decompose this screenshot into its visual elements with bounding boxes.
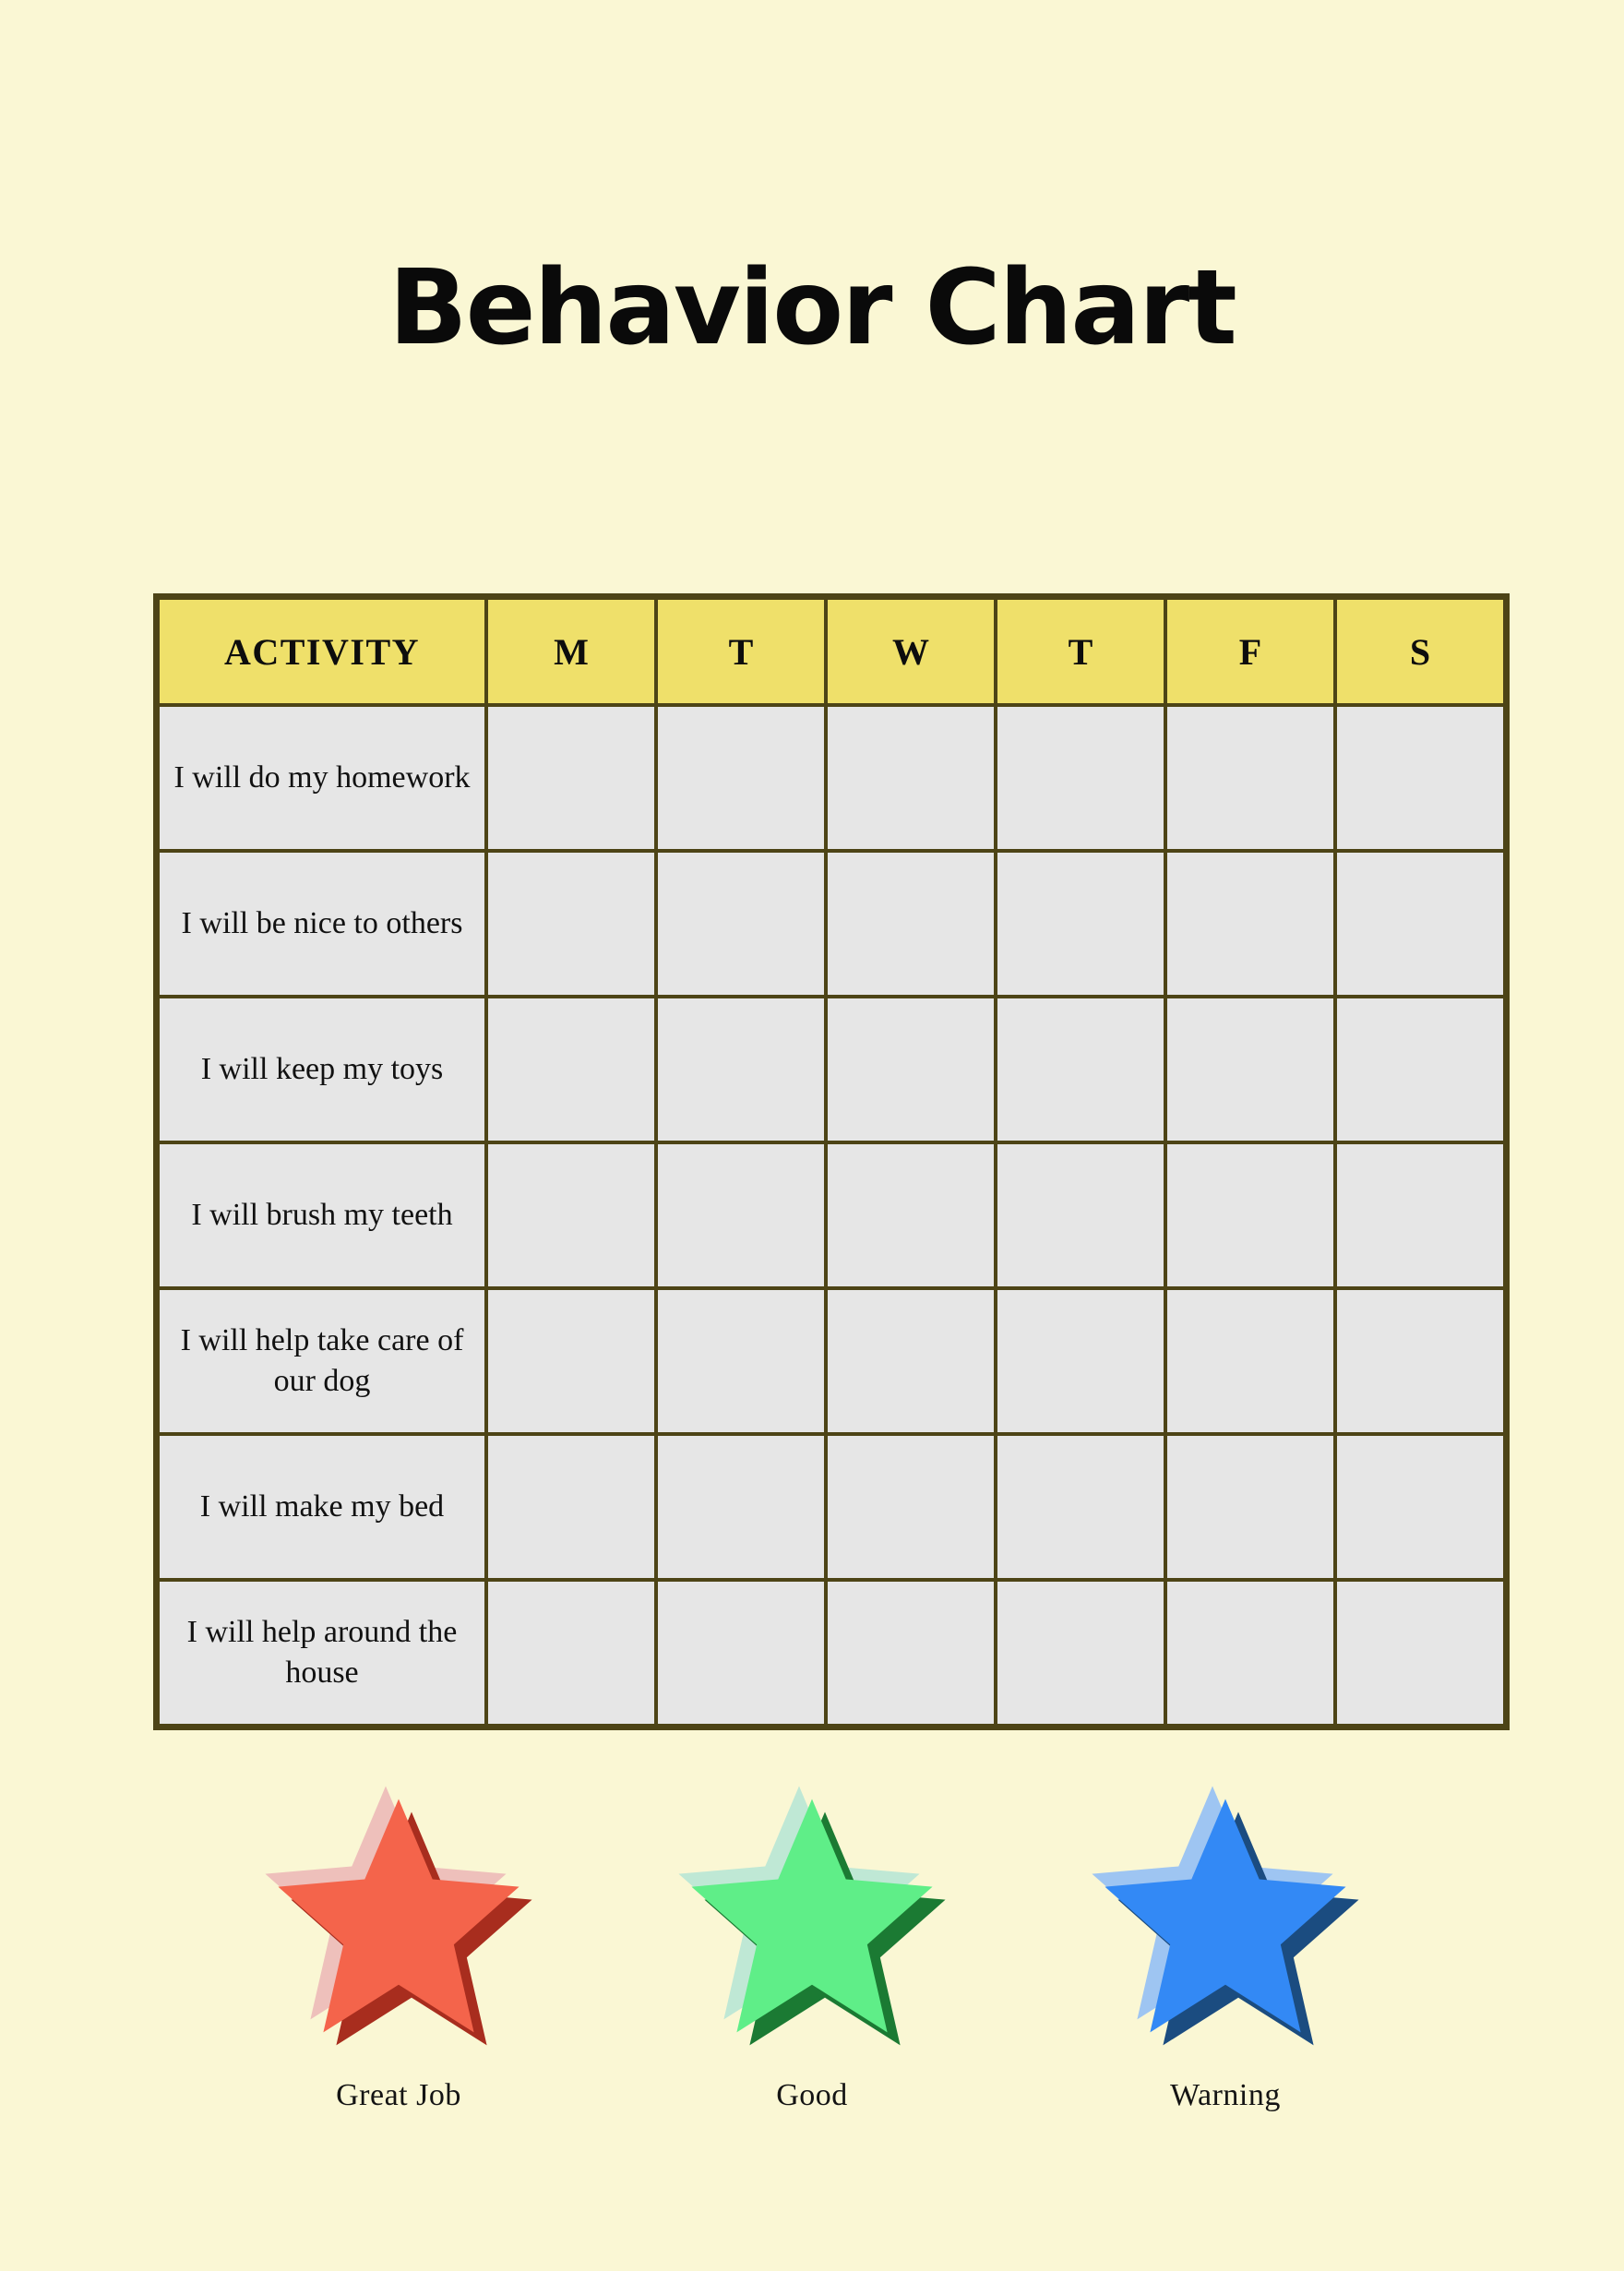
column-header-monday: M <box>486 597 656 706</box>
column-header-wednesday: W <box>826 597 996 706</box>
mark-cell-saturday[interactable] <box>1335 1288 1507 1434</box>
mark-cell-wednesday[interactable] <box>826 851 996 997</box>
mark-cell-tuesday[interactable] <box>656 705 826 851</box>
legend-label: Good <box>776 2078 848 2113</box>
activity-label: I will help around the house <box>157 1580 487 1727</box>
mark-cell-monday[interactable] <box>486 851 656 997</box>
star-icon <box>1087 1781 1364 2058</box>
table-row: I will be nice to others <box>157 851 1507 997</box>
mark-cell-monday[interactable] <box>486 1288 656 1434</box>
mark-cell-friday[interactable] <box>1165 1288 1335 1434</box>
mark-cell-thursday[interactable] <box>996 997 1165 1142</box>
table-row: I will make my bed <box>157 1434 1507 1580</box>
mark-cell-wednesday[interactable] <box>826 705 996 851</box>
mark-cell-thursday[interactable] <box>996 705 1165 851</box>
mark-cell-wednesday[interactable] <box>826 1434 996 1580</box>
mark-cell-friday[interactable] <box>1165 705 1335 851</box>
table-row: I will keep my toys <box>157 997 1507 1142</box>
column-header-saturday: S <box>1335 597 1507 706</box>
mark-cell-thursday[interactable] <box>996 1580 1165 1727</box>
mark-cell-monday[interactable] <box>486 997 656 1142</box>
table-header: ACTIVITY M T W T F S <box>157 597 1507 706</box>
column-header-tuesday: T <box>656 597 826 706</box>
column-header-activity: ACTIVITY <box>157 597 487 706</box>
star-icon <box>674 1781 950 2058</box>
page-title: Behavior Chart <box>0 247 1624 369</box>
mark-cell-monday[interactable] <box>486 705 656 851</box>
activity-label: I will be nice to others <box>157 851 487 997</box>
mark-cell-friday[interactable] <box>1165 997 1335 1142</box>
column-header-friday: F <box>1165 597 1335 706</box>
mark-cell-friday[interactable] <box>1165 1580 1335 1727</box>
legend: Great Job Good Warning <box>0 1781 1624 2113</box>
column-header-thursday: T <box>996 597 1165 706</box>
legend-item-good: Good <box>660 1781 964 2113</box>
mark-cell-thursday[interactable] <box>996 1434 1165 1580</box>
mark-cell-tuesday[interactable] <box>656 1580 826 1727</box>
mark-cell-friday[interactable] <box>1165 1434 1335 1580</box>
mark-cell-tuesday[interactable] <box>656 997 826 1142</box>
activity-label: I will make my bed <box>157 1434 487 1580</box>
mark-cell-tuesday[interactable] <box>656 1142 826 1288</box>
table-row: I will do my homework <box>157 705 1507 851</box>
mark-cell-wednesday[interactable] <box>826 1142 996 1288</box>
mark-cell-monday[interactable] <box>486 1580 656 1727</box>
table-body: I will do my homework I will be nice to … <box>157 705 1507 1727</box>
mark-cell-tuesday[interactable] <box>656 1434 826 1580</box>
activity-label: I will help take care of our dog <box>157 1288 487 1434</box>
mark-cell-tuesday[interactable] <box>656 851 826 997</box>
activity-label: I will do my homework <box>157 705 487 851</box>
table-row: I will brush my teeth <box>157 1142 1507 1288</box>
mark-cell-wednesday[interactable] <box>826 997 996 1142</box>
mark-cell-monday[interactable] <box>486 1434 656 1580</box>
mark-cell-thursday[interactable] <box>996 1288 1165 1434</box>
activity-label: I will brush my teeth <box>157 1142 487 1288</box>
legend-label: Warning <box>1170 2078 1281 2113</box>
mark-cell-friday[interactable] <box>1165 851 1335 997</box>
activity-label: I will keep my toys <box>157 997 487 1142</box>
mark-cell-tuesday[interactable] <box>656 1288 826 1434</box>
table-row: I will help take care of our dog <box>157 1288 1507 1434</box>
mark-cell-wednesday[interactable] <box>826 1580 996 1727</box>
behavior-table-container: ACTIVITY M T W T F S I will do my homewo… <box>153 593 1475 1730</box>
table-row: I will help around the house <box>157 1580 1507 1727</box>
mark-cell-thursday[interactable] <box>996 851 1165 997</box>
behavior-chart-page: Behavior Chart ACTIVITY M T W T F S I wi… <box>0 0 1624 2271</box>
mark-cell-saturday[interactable] <box>1335 705 1507 851</box>
mark-cell-saturday[interactable] <box>1335 1580 1507 1727</box>
mark-cell-friday[interactable] <box>1165 1142 1335 1288</box>
mark-cell-saturday[interactable] <box>1335 1434 1507 1580</box>
header-row: ACTIVITY M T W T F S <box>157 597 1507 706</box>
mark-cell-wednesday[interactable] <box>826 1288 996 1434</box>
mark-cell-saturday[interactable] <box>1335 851 1507 997</box>
mark-cell-thursday[interactable] <box>996 1142 1165 1288</box>
legend-item-warning: Warning <box>1073 1781 1378 2113</box>
mark-cell-saturday[interactable] <box>1335 997 1507 1142</box>
behavior-table: ACTIVITY M T W T F S I will do my homewo… <box>153 593 1510 1730</box>
mark-cell-monday[interactable] <box>486 1142 656 1288</box>
mark-cell-saturday[interactable] <box>1335 1142 1507 1288</box>
legend-label: Great Job <box>336 2078 461 2113</box>
star-icon <box>260 1781 537 2058</box>
legend-item-great-job: Great Job <box>246 1781 551 2113</box>
